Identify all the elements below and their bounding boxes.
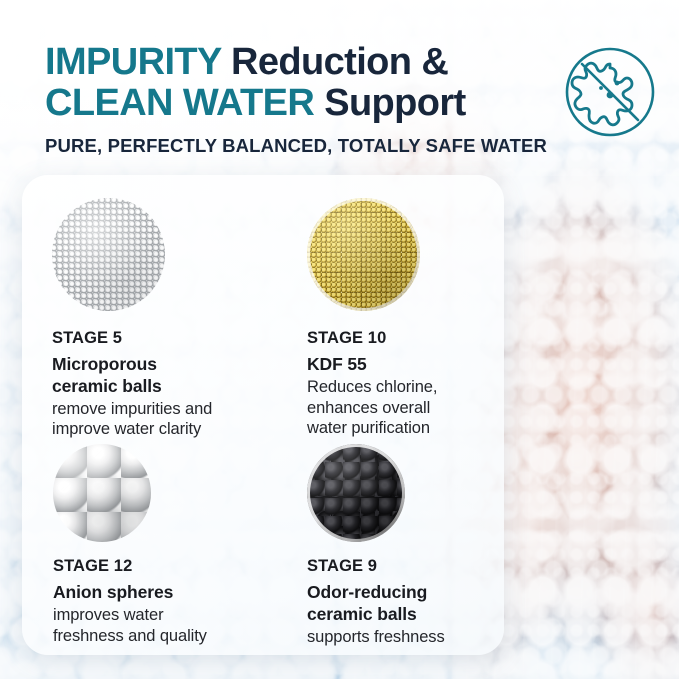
title-rest-support: Support	[314, 82, 465, 124]
stage-5-name: Microporousceramic balls	[52, 354, 294, 397]
infographic-root: IMPURITY Reduction &CLEAN WATER Support …	[0, 0, 679, 679]
stage-5-text: STAGE 5 Microporousceramic balls remove …	[52, 329, 294, 440]
kdf-gold-granules-swatch	[307, 198, 420, 311]
black-ceramic-beads-swatch	[307, 444, 405, 542]
stage-12-description: improves waterfreshness and quality	[53, 605, 294, 647]
stage-item-10: STAGE 10 KDF 55 Reduces chlorine,enhance…	[294, 175, 504, 431]
title-accent-clean-water: CLEAN WATER	[45, 82, 314, 124]
title-rest-reduction: Reduction &	[221, 41, 448, 83]
stage-10-description: Reduces chlorine,enhances overallwater p…	[307, 377, 504, 439]
stage-12-name: Anion spheres	[53, 582, 294, 604]
stage-item-12: STAGE 12 Anion spheres improves waterfre…	[22, 431, 294, 655]
stage-12-text: STAGE 12 Anion spheres improves waterfre…	[53, 557, 294, 646]
title-accent-impurity: IMPURITY	[45, 41, 221, 83]
page-title: IMPURITY Reduction &CLEAN WATER Support	[45, 42, 545, 125]
stages-grid: STAGE 5 Microporousceramic balls remove …	[22, 175, 504, 655]
stage-9-label: STAGE 9	[307, 557, 504, 575]
stage-12-label: STAGE 12	[53, 557, 294, 575]
stage-10-name: KDF 55	[307, 354, 504, 376]
micro-ceramic-beads-swatch	[52, 198, 165, 311]
page-subtitle: PURE, PERFECTLY BALANCED, TOTALLY SAFE W…	[45, 135, 547, 157]
stage-item-9: STAGE 9 Odor-reducingceramic balls suppo…	[294, 431, 504, 655]
stage-9-description: supports freshness	[307, 627, 504, 648]
no-germs-icon	[560, 42, 660, 142]
stage-9-text: STAGE 9 Odor-reducingceramic balls suppo…	[307, 557, 504, 647]
stage-10-label: STAGE 10	[307, 329, 504, 347]
stage-item-5: STAGE 5 Microporousceramic balls remove …	[22, 175, 294, 431]
stages-card: STAGE 5 Microporousceramic balls remove …	[22, 175, 504, 655]
stage-5-label: STAGE 5	[52, 329, 294, 347]
anion-white-spheres-swatch	[53, 444, 151, 542]
stage-10-text: STAGE 10 KDF 55 Reduces chlorine,enhance…	[307, 329, 504, 439]
stage-9-name: Odor-reducingceramic balls	[307, 582, 504, 625]
